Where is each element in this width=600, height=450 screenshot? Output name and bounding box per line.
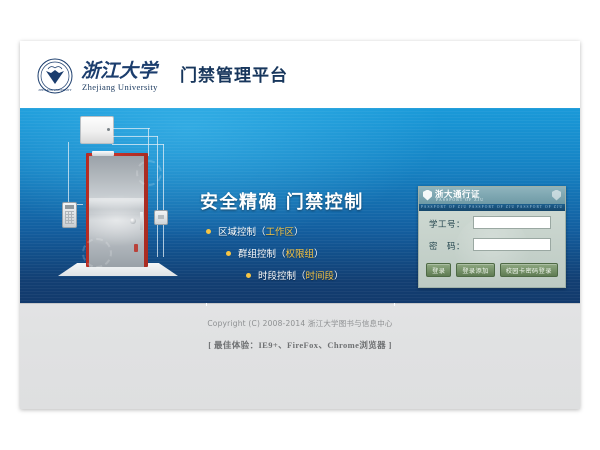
campus-card-login-button[interactable]: 校园卡密码登录 (500, 263, 558, 277)
door-highlight-band (89, 198, 144, 214)
feature-item-time-control: 时段控制（时间段） (246, 268, 344, 282)
wire-g (163, 144, 165, 257)
strip-text: PASSPORT OF ZJU (469, 205, 515, 209)
feature-tail: ） (294, 227, 304, 238)
copyright-text: Copyright (C) 2008-2014 浙江大学图书与信息中心 (20, 318, 580, 329)
feature-text: 区域控制（ (218, 227, 266, 238)
footer-notch (206, 303, 207, 306)
keypad-screen (65, 205, 74, 209)
password-field[interactable] (473, 238, 551, 251)
door-knob-icon (130, 218, 136, 224)
bullet-dot-icon (226, 251, 231, 256)
login-button[interactable]: 登录 (426, 263, 451, 277)
door-strike-plate (140, 212, 143, 230)
feature-highlight: 工作区 (266, 227, 295, 238)
shield-icon (423, 190, 432, 201)
door-illustration (42, 114, 192, 294)
wire-e (157, 136, 159, 257)
userid-field[interactable] (473, 216, 551, 229)
keypad-keys (65, 211, 74, 224)
feature-text: 时段控制（ (258, 271, 306, 282)
university-logo[interactable]: ZHEJIANG UNIVERSITY 浙江大学 Zhejiang Univer… (37, 58, 202, 96)
university-name-en: Zhejiang University (82, 82, 158, 92)
door-sensor-icon (134, 244, 138, 252)
wire-to-keypad (68, 142, 83, 205)
gear-icon (136, 160, 162, 186)
feature-item-group-control: 群组控制（权限组） (226, 246, 344, 260)
login-panel: 浙大通行证 PASSPORT OF ZJU PASSPORT OF ZJU PA… (418, 186, 566, 288)
site-header: ZHEJIANG UNIVERSITY 浙江大学 Zhejiang Univer… (20, 41, 580, 108)
wire-b (112, 128, 150, 129)
feature-tail: ） (334, 271, 344, 282)
login-button-group: 登录 登录添加 校园卡密码登录 (419, 263, 565, 277)
bullet-dot-icon (246, 273, 251, 278)
site-card: ZHEJIANG UNIVERSITY 浙江大学 Zhejiang Univer… (20, 41, 580, 409)
access-controller-box-icon (80, 116, 114, 144)
hero-banner: 安全精确 门禁控制 区域控制（工作区） 群组控制（权限组） 时段控制（时间段） … (20, 108, 580, 303)
login-add-button[interactable]: 登录添加 (456, 263, 494, 277)
footer-notch (394, 303, 395, 306)
page-title: 门禁管理平台 (180, 61, 288, 86)
feature-text: 群组控制（ (238, 249, 286, 260)
wire-d (112, 136, 158, 137)
browser-support-text: [ 最佳体验：IE9+、FireFox、Chrome浏览器 ] (20, 339, 580, 351)
password-label: 密 码： (429, 240, 465, 252)
wire-f (112, 144, 164, 145)
userid-label: 学工号： (429, 218, 465, 230)
feature-list: 区域控制（工作区） 群组控制（权限组） 时段控制（时间段） (206, 224, 344, 290)
login-panel-subtitle: PASSPORT OF ZJU (436, 197, 484, 202)
feature-tail: ） (314, 249, 324, 260)
pin-keypad-reader-icon (62, 202, 77, 228)
gear-icon (82, 238, 112, 268)
wire-c (148, 128, 150, 156)
door-closer-icon (92, 151, 114, 156)
svg-text:ZHEJIANG UNIVERSITY: ZHEJIANG UNIVERSITY (38, 88, 72, 92)
login-panel-strip: PASSPORT OF ZJU PASSPORT OF ZJU PASSPORT… (419, 204, 565, 211)
password-row: 密 码： (419, 238, 565, 255)
page-root: ZHEJIANG UNIVERSITY 浙江大学 Zhejiang Univer… (0, 0, 600, 450)
login-form: 学工号： 密 码： (419, 211, 565, 255)
banner-slogan: 安全精确 门禁控制 (200, 188, 364, 214)
logo-cn-text: 浙江大学 (81, 60, 160, 82)
login-panel-header: 浙大通行证 PASSPORT OF ZJU (419, 187, 565, 204)
strip-text: PASSPORT OF ZJU (517, 205, 563, 209)
card-reader-icon (154, 210, 168, 225)
shield-icon (552, 190, 561, 201)
feature-item-area-control: 区域控制（工作区） (206, 224, 344, 238)
strip-text: PASSPORT OF ZJU (421, 205, 467, 209)
userid-row: 学工号： (419, 216, 565, 233)
site-footer: Copyright (C) 2008-2014 浙江大学图书与信息中心 [ 最佳… (20, 303, 580, 409)
bullet-dot-icon (206, 229, 211, 234)
feature-highlight: 时间段 (306, 271, 335, 282)
zju-seal-icon: ZHEJIANG UNIVERSITY (37, 58, 73, 94)
feature-highlight: 权限组 (286, 249, 315, 260)
